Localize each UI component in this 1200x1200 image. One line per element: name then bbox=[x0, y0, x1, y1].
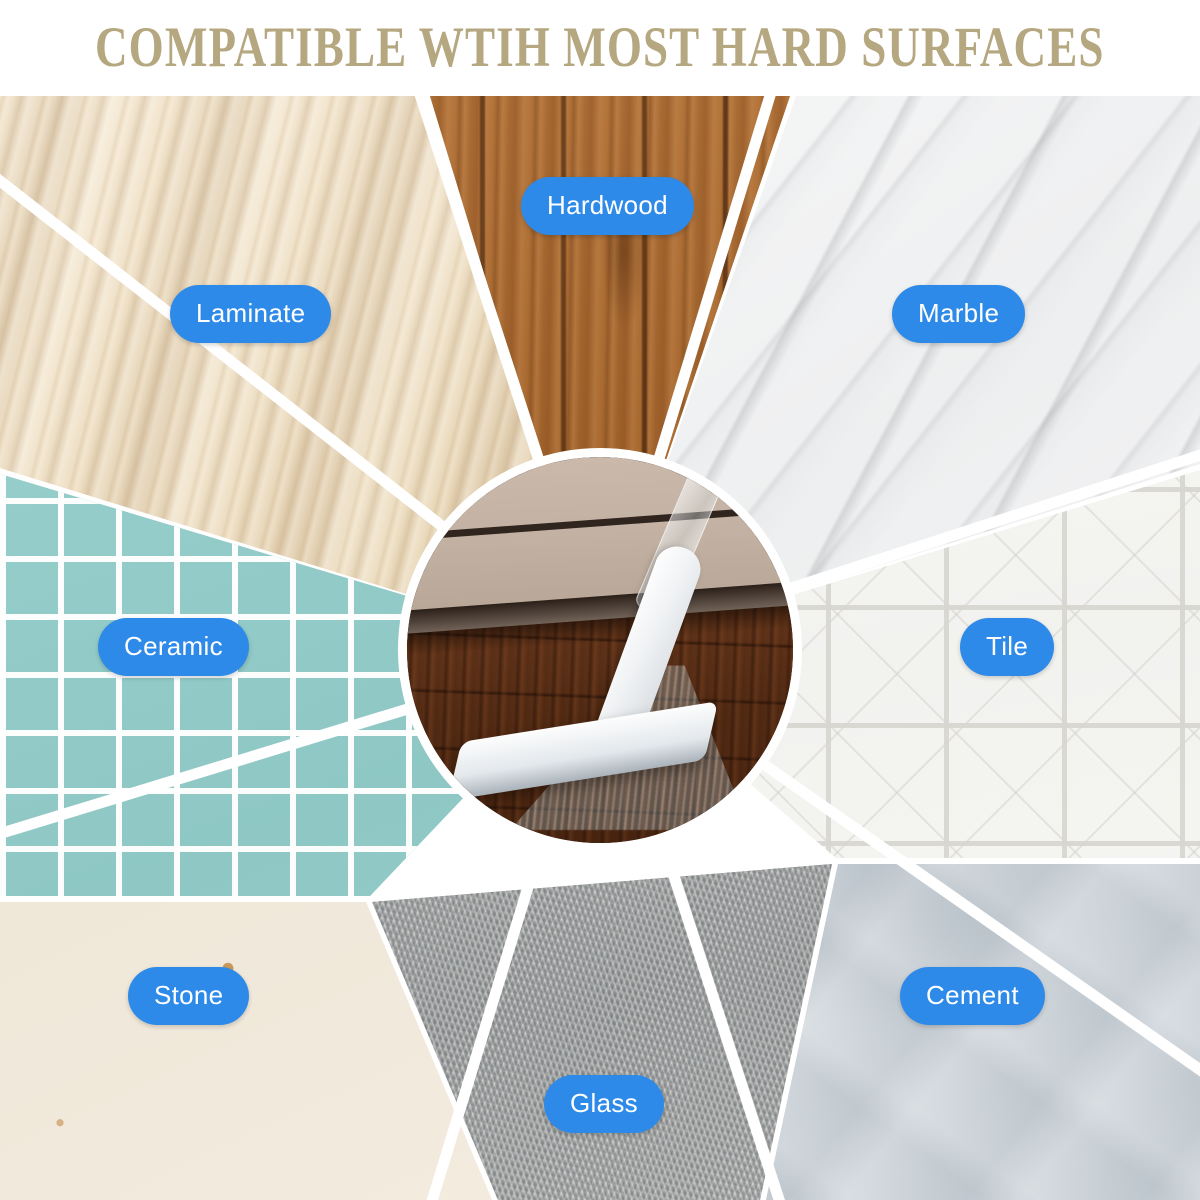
surface-label-hardwood[interactable]: Hardwood bbox=[521, 177, 694, 235]
surface-compatibility-infographic: COMPATIBLE WTIH MOST HARD SURFACES bbox=[0, 0, 1200, 1200]
page-title: COMPATIBLE WTIH MOST HARD SURFACES bbox=[95, 19, 1104, 76]
surface-label-glass[interactable]: Glass bbox=[544, 1075, 664, 1133]
surface-label-marble[interactable]: Marble bbox=[892, 285, 1025, 343]
center-photo-inner bbox=[407, 457, 793, 843]
surface-label-cement[interactable]: Cement bbox=[900, 967, 1045, 1025]
surface-label-stone[interactable]: Stone bbox=[128, 967, 249, 1025]
surface-label-tile[interactable]: Tile bbox=[960, 618, 1054, 676]
center-product-photo[interactable] bbox=[398, 448, 802, 852]
header-band: COMPATIBLE WTIH MOST HARD SURFACES bbox=[0, 0, 1200, 96]
surface-label-laminate[interactable]: Laminate bbox=[170, 285, 331, 343]
surface-label-ceramic[interactable]: Ceramic bbox=[98, 618, 249, 676]
